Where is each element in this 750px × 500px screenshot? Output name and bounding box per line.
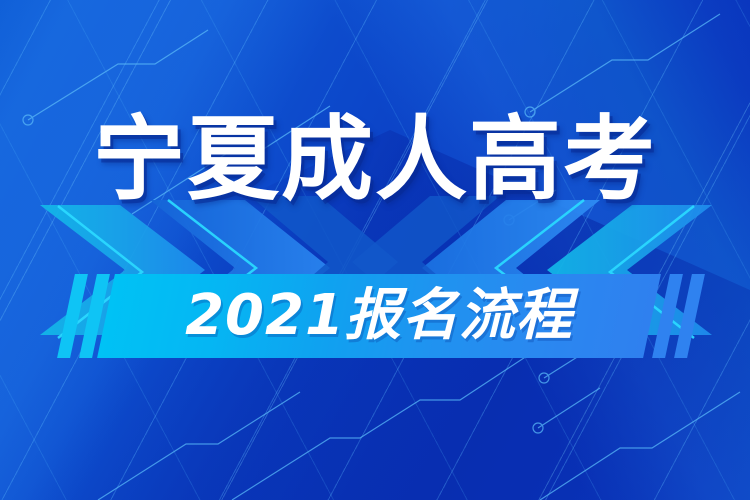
circuit-node-circle [533,423,543,433]
circuit-trace-bottomright [540,392,740,500]
circuit-node-circle [539,373,549,383]
circuit-trace-bottomleft-2 [98,392,300,500]
subtitle-banner: 2021报名流程 [0,270,750,362]
left-chevron-cluster [0,0,750,500]
poster-canvas: 宁夏成人高考 2021报名流程 [0,0,750,500]
background-light-band-left [0,0,750,500]
circuit-trace-bottomleft [232,350,536,500]
subtitle-text-wrap: 2021报名流程 [106,274,652,358]
background-light-band-right [0,0,750,500]
diagonal-hairlines-descending [0,0,750,500]
diagonal-hairlines-descending-wide [0,0,750,500]
circuit-trace-rightmid-2 [538,388,600,428]
diagonal-hairlines-ascending [0,0,750,500]
right-chevron-cluster [0,0,750,500]
page-subtitle: 2021报名流程 [185,287,573,345]
page-title: 宁夏成人高考 [93,112,657,208]
background-gradient [0,0,750,500]
background-dark-wedge [0,0,750,500]
circuit-trace-lines [0,0,750,500]
title-block: 宁夏成人高考 [0,112,750,208]
circuit-node-circle [504,215,514,225]
circuit-trace-topright [530,14,720,112]
